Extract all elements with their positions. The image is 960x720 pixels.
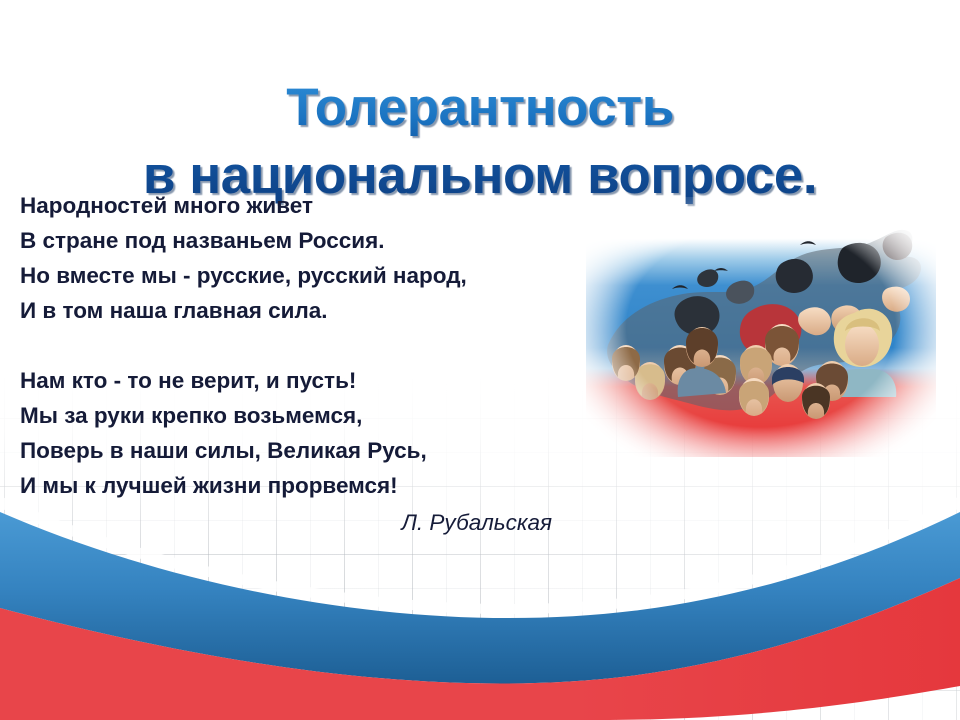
slide: Толерантность в национальном вопросе. На… bbox=[0, 0, 960, 720]
poem-line: В стране под названьем Россия. bbox=[20, 223, 560, 258]
poem-block: Народностей много живет В стране под наз… bbox=[20, 188, 560, 540]
photo-children-map-of-russia bbox=[586, 197, 936, 457]
poem-line: Нам кто - то не верит, и пусть! bbox=[20, 363, 560, 398]
poem-line: Но вместе мы - русские, русский народ, bbox=[20, 258, 560, 293]
poem-line: Народностей много живет bbox=[20, 188, 560, 223]
poem-author: Л. Рубальская bbox=[20, 505, 560, 540]
poem-stanza-gap bbox=[20, 328, 560, 363]
poem-line: И мы к лучшей жизни прорвемся! bbox=[20, 468, 560, 503]
poem-line: Поверь в наши силы, Великая Русь, bbox=[20, 433, 560, 468]
poem-line: И в том наша главная сила. bbox=[20, 293, 560, 328]
poem-line: Мы за руки крепко возьмемся, bbox=[20, 398, 560, 433]
